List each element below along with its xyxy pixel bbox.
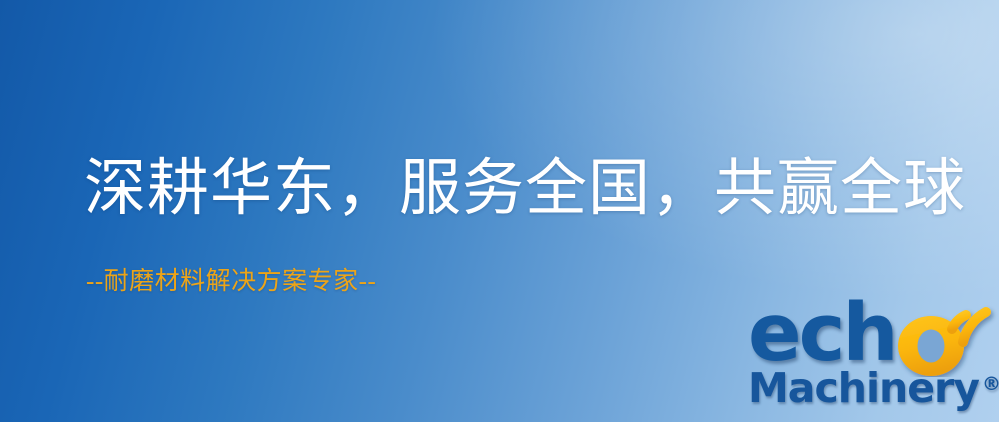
logo-tagline: Machinery® — [748, 364, 999, 412]
banner-subtitle: --耐磨材料解决方案专家-- — [86, 266, 376, 298]
company-logo[interactable]: ech — [746, 296, 999, 422]
banner-headline: 深耕华东，服务全国，共赢全球 — [84, 152, 966, 226]
logo-tagline-text: Machinery — [748, 364, 979, 412]
registered-trademark-icon: ® — [982, 373, 999, 395]
logo-wordmark: ech — [746, 296, 999, 372]
hero-banner: 深耕华东，服务全国，共赢全球 --耐磨材料解决方案专家-- ech — [0, 0, 999, 422]
